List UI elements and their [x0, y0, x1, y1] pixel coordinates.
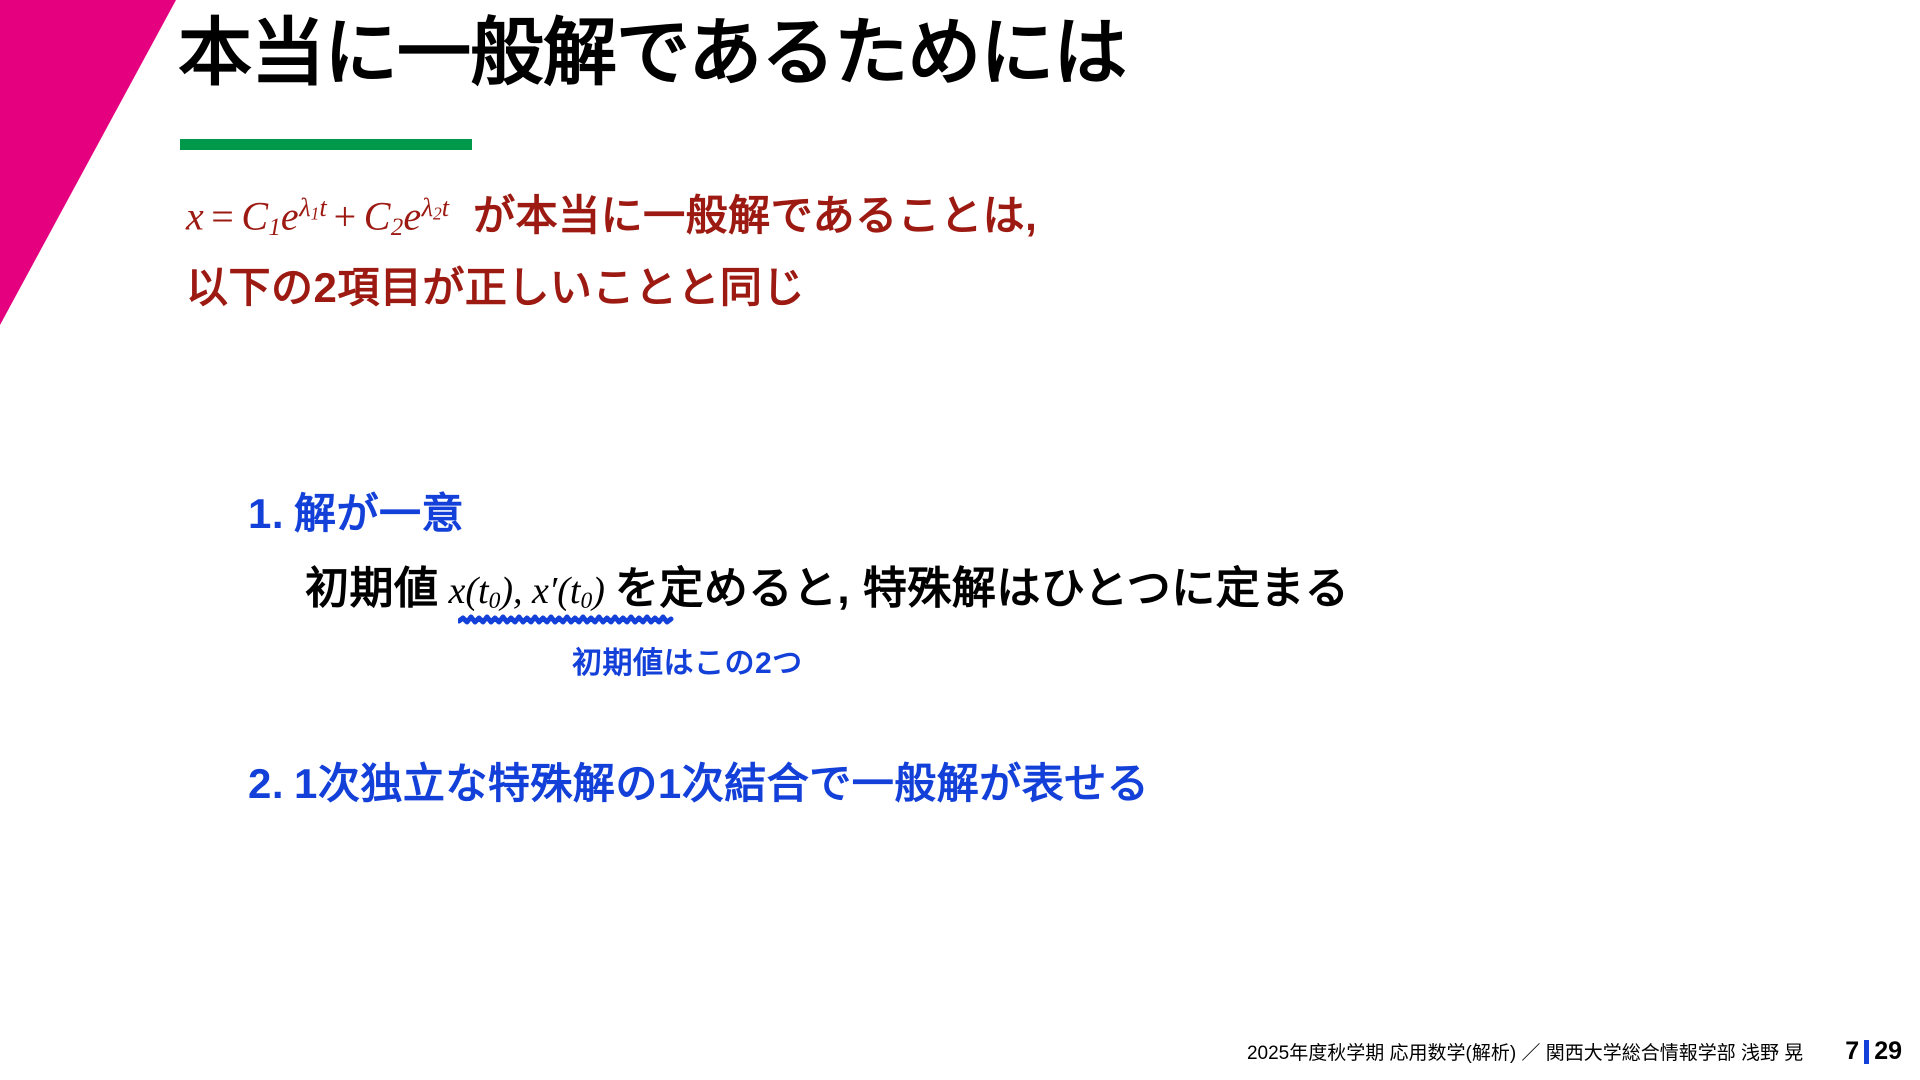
footer-credit-text: 2025年度秋学期 応用数学(解析) ／ 関西大学総合情報学部 浅野 晃: [1247, 1038, 1803, 1065]
math-t-subscript-second: 0: [580, 588, 592, 614]
math-paren-open-first: (: [465, 570, 478, 612]
formula-term2-base: e: [403, 194, 421, 239]
current-page-number: 7: [1845, 1037, 1859, 1066]
list-item-2-number: 2.: [248, 760, 284, 807]
initial-value-annotation: 初期値はこの2つ: [572, 638, 803, 682]
formula-term1-exponent-lambda: λ: [299, 192, 310, 222]
statement-line-1-text: が本当に一般解であることは,: [473, 182, 1037, 243]
list-item-2-heading: 2.1次独立な特殊解の1次結合で一般解が表せる: [248, 750, 1149, 811]
formula-term2-exponent-variable: t: [442, 192, 449, 222]
math-paren-close-second: ): [592, 570, 605, 612]
list-item-2-heading-text: 1次独立な特殊解の1次結合で一般解が表せる: [294, 760, 1149, 807]
math-comma: ,: [513, 570, 523, 612]
page-indicator: 7 29: [1845, 1037, 1902, 1066]
formula-equals: =: [204, 194, 241, 239]
list-item-1-body-prefix: 初期値: [305, 552, 439, 616]
math-t-subscript-first: 0: [489, 588, 501, 614]
formula-term1-exponent-variable: t: [319, 192, 326, 222]
formula-term1-coefficient-subscript: 1: [269, 214, 281, 241]
list-item-1-body-suffix: を定めると, 特殊解はひとつに定まる: [615, 552, 1349, 616]
statement-line-1: x=C1eλ1t+C2eλ2t が本当に一般解であることは,: [186, 182, 1037, 242]
formula-term1-base: e: [281, 194, 299, 239]
title-underline-rule: [180, 139, 472, 150]
list-item-1-heading-text: 解が一意: [294, 490, 464, 537]
math-t-second: t: [570, 570, 581, 612]
formula-term2-exponent: λ2t: [422, 192, 449, 222]
list-item-1-body: 初期値x(t0), x′(t0)を定めると, 特殊解はひとつに定まる: [305, 552, 1349, 616]
page-separator-bar-icon: [1864, 1040, 1869, 1064]
formula-lhs: x: [186, 194, 204, 239]
math-x-second: x: [532, 570, 549, 612]
initial-value-math-expression: x(t0), x′(t0): [439, 569, 615, 615]
list-item-1-heading: 1.解が一意: [248, 480, 464, 541]
formula-term2-coefficient-subscript: 2: [391, 214, 403, 241]
formula-term1-coefficient: C: [241, 194, 268, 239]
formula-term2-coefficient: C: [364, 194, 391, 239]
statement-block: x=C1eλ1t+C2eλ2t が本当に一般解であることは, 以下の2項目が正し…: [186, 182, 1037, 315]
formula-term2-exponent-lambda: λ: [422, 192, 433, 222]
blue-squiggle-underline-icon: [458, 613, 674, 627]
statement-line-2-text: 以下の2項目が正しいことと同じ: [186, 254, 1037, 315]
total-page-number: 29: [1874, 1037, 1902, 1066]
formula-term2-exponent-subscript: 2: [433, 204, 442, 224]
slide-footer: 2025年度秋学期 応用数学(解析) ／ 関西大学総合情報学部 浅野 晃 7 2…: [1247, 1037, 1902, 1066]
formula-term1-exponent: λ1t: [299, 192, 326, 222]
general-solution-formula: x=C1eλ1t+C2eλ2t: [186, 192, 449, 242]
math-x-first: x: [449, 570, 466, 612]
list-item-1-number: 1.: [248, 490, 284, 537]
math-prime-symbol: ′: [549, 570, 557, 612]
math-t-first: t: [478, 570, 489, 612]
math-paren-close-first: ): [500, 570, 513, 612]
math-paren-open-second: (: [557, 570, 570, 612]
formula-plus: +: [327, 194, 364, 239]
slide-canvas: 本当に一般解であるためには x=C1eλ1t+C2eλ2t が本当に一般解である…: [0, 0, 1920, 1080]
page-title: 本当に一般解であるためには: [178, 12, 1126, 95]
